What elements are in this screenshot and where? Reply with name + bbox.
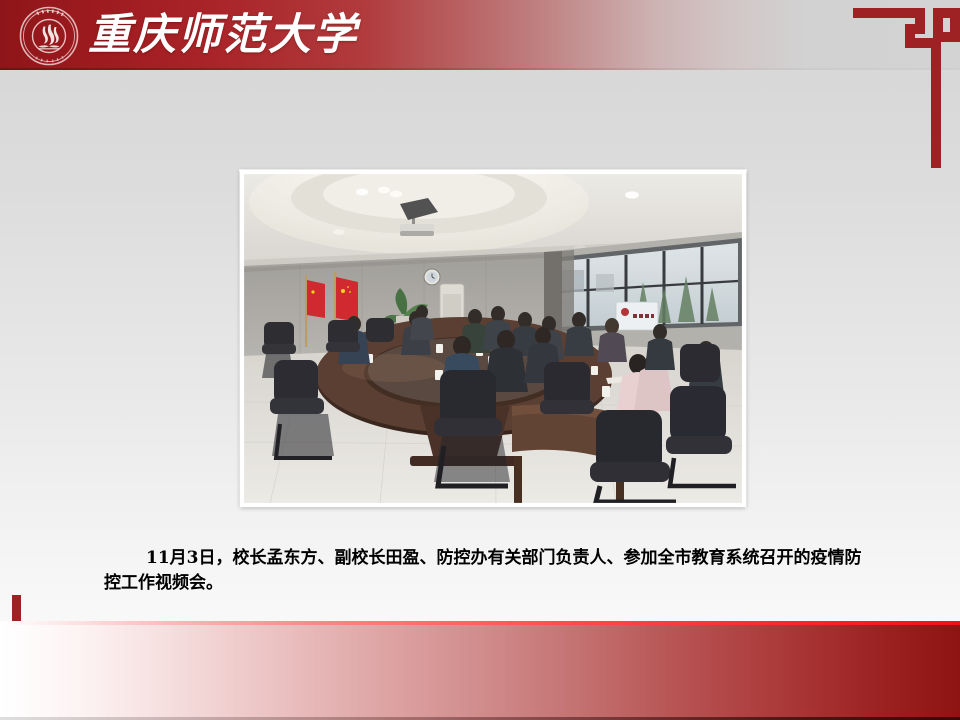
university-seal-icon: [19, 6, 79, 66]
meander-corner-icon-top-right: [853, 8, 960, 173]
photo-caption: 11月3日，校长孟东方、副校长田盈、防控办有关部门负责人、参加全市教育系统召开的…: [104, 546, 874, 596]
footer-band: [0, 625, 960, 720]
university-name: 重庆师范大学: [88, 4, 358, 66]
header-band: 重庆师范大学: [0, 0, 960, 70]
meeting-photo: [244, 174, 742, 503]
slide-canvas: 重庆师范大学: [0, 0, 960, 720]
meeting-photo-frame: [240, 170, 746, 507]
